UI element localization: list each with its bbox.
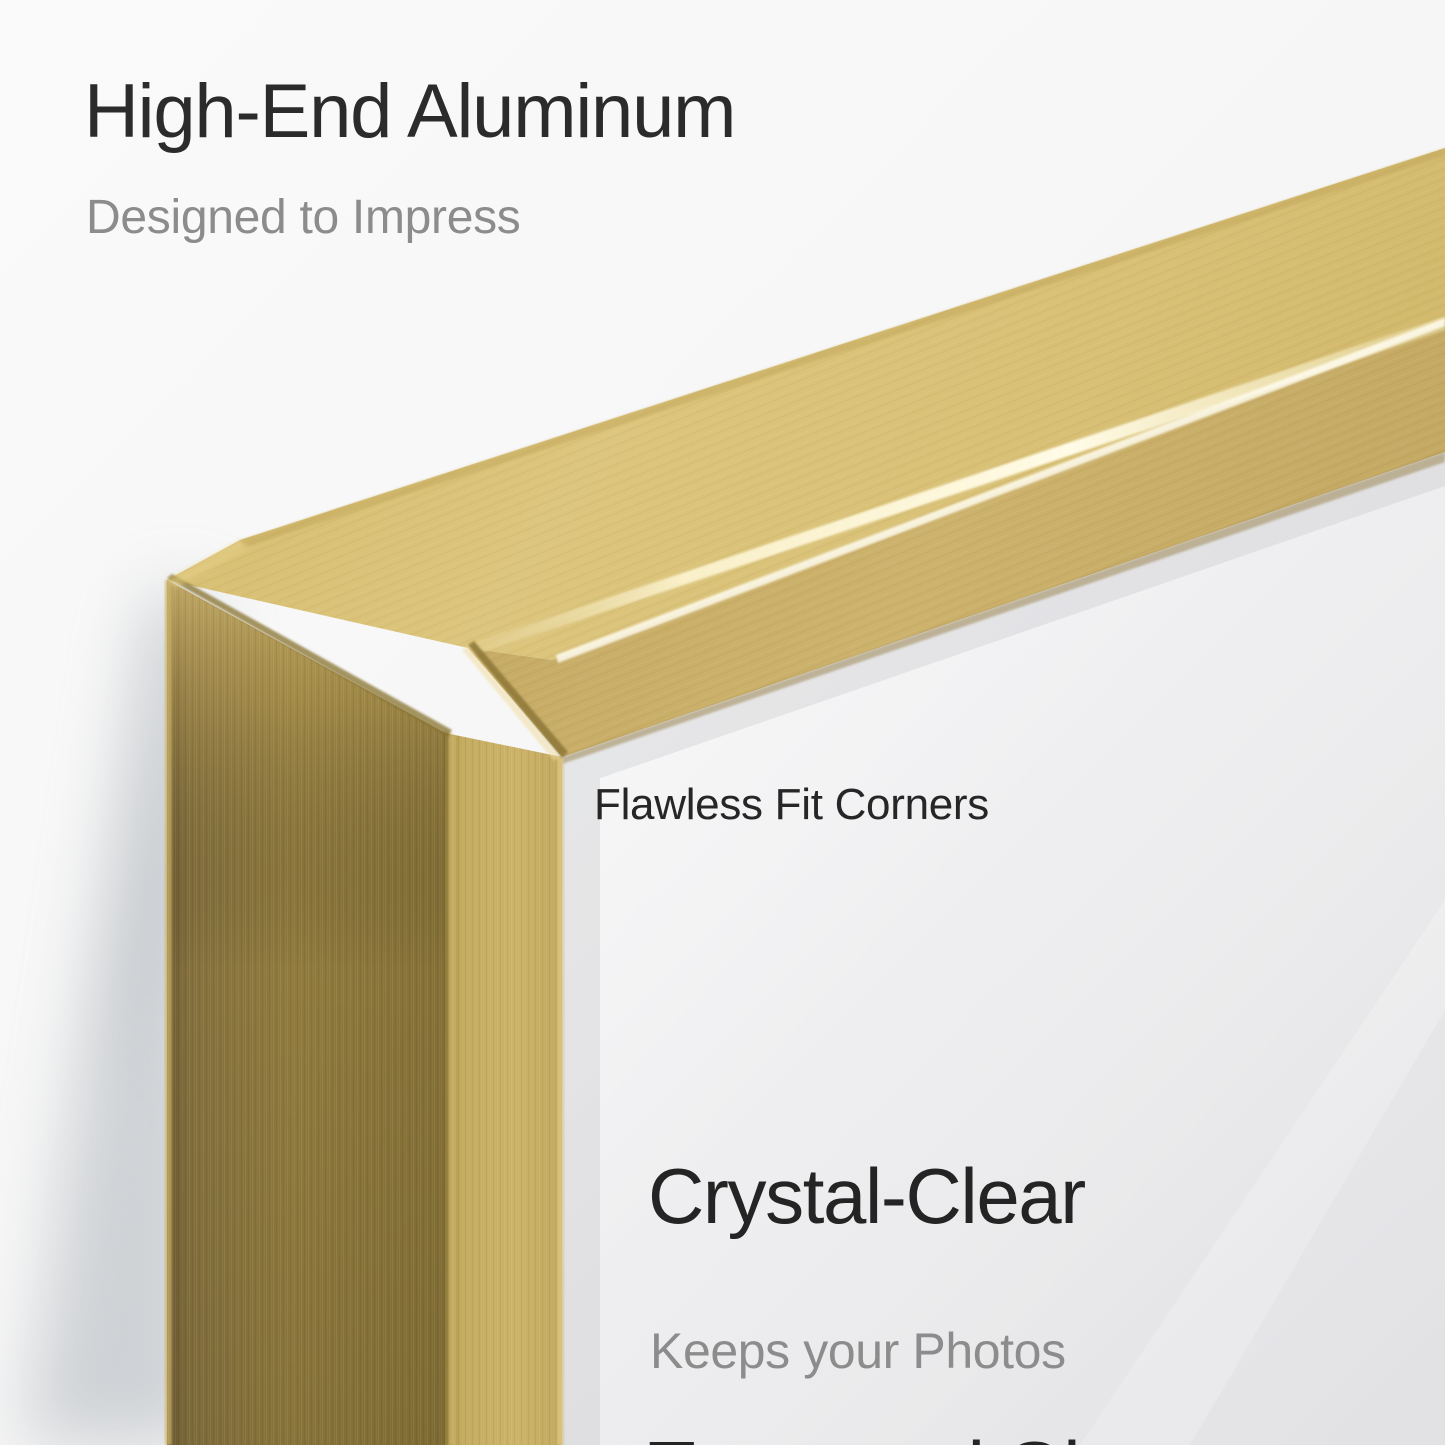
callout-flawless-fit-corners: Flawless Fit Corners (594, 780, 989, 830)
glass-sub-line-1: Keeps your Photos (650, 1320, 1066, 1382)
page-headline: High-End Aluminum (84, 72, 735, 152)
page-subheadline: Designed to Impress (86, 192, 521, 245)
product-marketing-image: High-End Aluminum Designed to Impress Fl… (0, 0, 1445, 1445)
glass-feature-subtitle: Keeps your Photos Looking Sharp (650, 1196, 1066, 1445)
